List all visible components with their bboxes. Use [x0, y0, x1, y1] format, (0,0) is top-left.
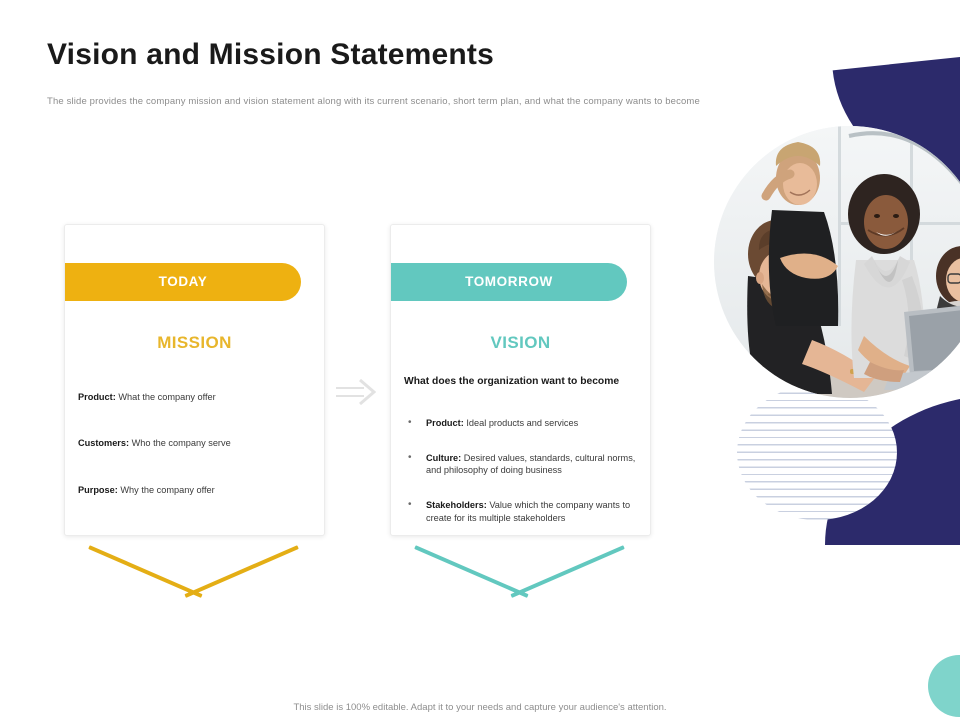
vision-item-label: Product:	[426, 418, 464, 428]
chevron-arm-left	[88, 545, 202, 598]
mission-card[interactable]: TODAY MISSION Product: What the company …	[64, 224, 325, 536]
vision-list: Product: Ideal products and services Cul…	[404, 417, 644, 546]
mission-item-label: Product:	[78, 392, 116, 402]
page-title: Vision and Mission Statements	[47, 38, 494, 72]
vision-heading: VISION	[391, 333, 650, 353]
vision-item-label: Culture:	[426, 453, 461, 463]
vision-lead-text: What does the organization want to becom…	[404, 375, 629, 389]
today-banner: TODAY	[65, 263, 301, 301]
vision-chevron	[390, 536, 649, 592]
mission-item-text: What the company offer	[118, 392, 215, 402]
mission-item-label: Customers:	[78, 438, 129, 448]
footer-note: This slide is 100% editable. Adapt it to…	[0, 702, 960, 713]
tomorrow-banner: TOMORROW	[391, 263, 627, 301]
vision-card[interactable]: TOMORROW VISION What does the organizati…	[390, 224, 651, 536]
list-item: Purpose: Why the company offer	[78, 484, 313, 496]
chevron-arm-left	[414, 545, 528, 598]
chevron-arm-right	[510, 545, 624, 598]
mission-item-text: Why the company offer	[120, 485, 214, 495]
mission-heading: MISSION	[65, 333, 324, 353]
chevron-arm-right	[184, 545, 298, 598]
vision-item-text: Ideal products and services	[466, 418, 578, 428]
team-collaboration-photo	[714, 126, 960, 398]
vision-item-label: Stakeholders:	[426, 500, 487, 510]
slide-canvas: Vision and Mission Statements The slide …	[0, 0, 960, 720]
arrow-right-icon	[334, 377, 376, 407]
mission-chevron	[64, 536, 323, 592]
page-subtitle: The slide provides the company mission a…	[47, 96, 700, 107]
mission-list: Product: What the company offer Customer…	[78, 391, 313, 530]
list-item: Product: What the company offer	[78, 391, 313, 403]
list-item: Stakeholders: Value which the company wa…	[404, 499, 644, 524]
striped-circle-shape	[737, 385, 897, 520]
mission-item-text: Who the company serve	[132, 438, 231, 448]
list-item: Product: Ideal products and services	[404, 417, 644, 430]
mission-item-label: Purpose:	[78, 485, 118, 495]
photo-illustration	[714, 126, 960, 398]
list-item: Culture: Desired values, standards, cult…	[404, 452, 644, 477]
list-item: Customers: Who the company serve	[78, 437, 313, 449]
